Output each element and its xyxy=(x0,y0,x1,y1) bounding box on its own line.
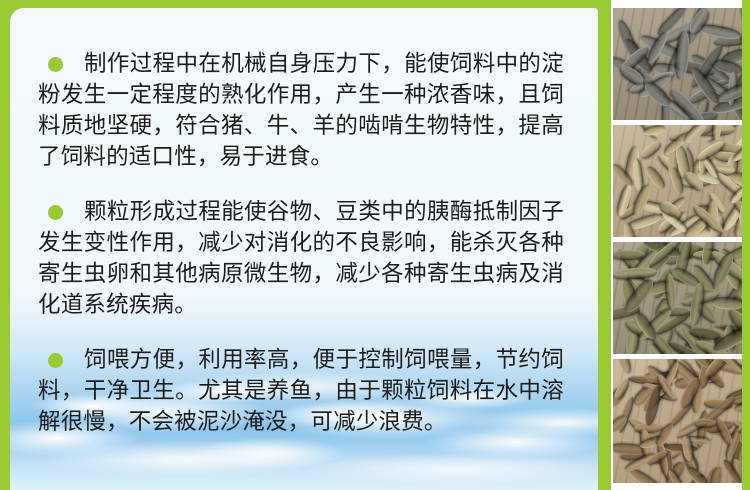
feed-pellet xyxy=(694,419,715,428)
pellet-cluster xyxy=(613,359,748,483)
promo-banner: 制作过程中在机械自身压力下，能使饲料中的淀粉发生一定程度的熟化作用，产生一种浓香… xyxy=(0,0,750,490)
feed-pellet xyxy=(711,125,721,140)
product-photo-gallery xyxy=(611,0,750,490)
product-photo-brown-pellets[interactable] xyxy=(613,359,748,483)
list-item: 制作过程中在机械自身压力下，能使饲料中的淀粉发生一定程度的熟化作用，产生一种浓香… xyxy=(38,48,564,172)
pellet-cluster xyxy=(613,125,748,237)
text-panel: 制作过程中在机械自身压力下，能使饲料中的淀粉发生一定程度的熟化作用，产生一种浓香… xyxy=(10,8,598,490)
list-item: 颗粒形成过程能使谷物、豆类中的胰酶抵制因子发生变性作用，减少对消化的不良影响，能… xyxy=(38,196,564,320)
pellet-cluster xyxy=(613,242,748,354)
bullet-list: 制作过程中在机械自身压力下，能使饲料中的淀粉发生一定程度的熟化作用，产生一种浓香… xyxy=(10,8,598,437)
green-dot-icon xyxy=(48,57,63,72)
frame-left-border xyxy=(0,0,10,490)
list-item-text: 制作过程中在机械自身压力下，能使饲料中的淀粉发生一定程度的熟化作用，产生一种浓香… xyxy=(38,51,564,169)
frame-center-divider xyxy=(598,0,611,490)
list-item-text: 饲喂方便，利用率高，便于控制饲喂量，节约饲料，干净卫生。尤其是养鱼，由于颗粒饲料… xyxy=(38,347,564,434)
list-item: 饲喂方便，利用率高，便于控制饲喂量，节约饲料，干净卫生。尤其是养鱼，由于颗粒饲料… xyxy=(38,344,564,437)
cloud-haze-layer xyxy=(10,428,598,490)
feed-pellet xyxy=(613,267,656,281)
product-photo-olive-pellets[interactable] xyxy=(613,242,748,354)
product-photo-light-tan-pellets[interactable] xyxy=(613,125,748,237)
frame-right-border xyxy=(742,0,750,490)
green-dot-icon xyxy=(48,353,63,368)
feed-pellet xyxy=(614,359,633,375)
frame-top-border xyxy=(0,0,611,8)
list-item-text: 颗粒形成过程能使谷物、豆类中的胰酶抵制因子发生变性作用，减少对消化的不良影响，能… xyxy=(38,199,564,317)
green-dot-icon xyxy=(48,205,63,220)
product-photo-dark-grey-pellets[interactable] xyxy=(613,8,748,120)
pellet-cluster xyxy=(613,8,748,120)
